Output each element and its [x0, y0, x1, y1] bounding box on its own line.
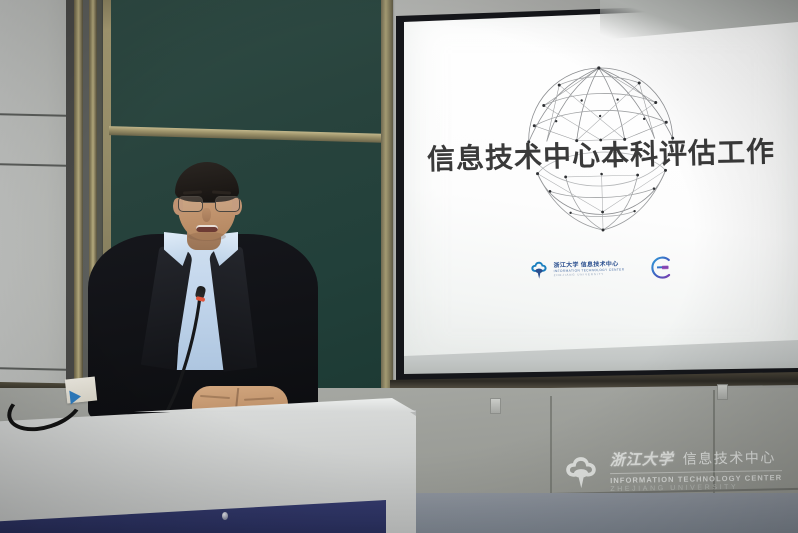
panel-clip [717, 384, 728, 400]
mouth [196, 225, 218, 232]
nose [202, 208, 211, 222]
lower-wall-seam [550, 396, 552, 504]
zju-logo-en-sub: ZHEJIANG UNIVERSITY [554, 273, 625, 277]
photograph-scene: 信息技术中心本科评估工作 浙江大学 信息技术中心 INFORMATION TEC… [0, 0, 798, 533]
left-wall-panel [0, 0, 66, 420]
glasses-lens-right [215, 196, 240, 212]
blue-e-logo [648, 254, 675, 281]
glasses-lens-left [178, 196, 203, 212]
panel-clip [490, 398, 501, 414]
glasses-bridge [201, 202, 215, 203]
blackboard-right-edge [381, 0, 393, 398]
zju-logo-text: 浙江大学 信息技术中心 INFORMATION TECHNOLOGY CENTE… [553, 261, 624, 277]
slide-title: 信息技术中心本科评估工作 [404, 130, 798, 179]
lower-wall-seam [713, 390, 715, 494]
zhejiang-university-itc-logo: 浙江大学 信息技术中心 INFORMATION TECHNOLOGY CENTE… [527, 257, 624, 281]
brass-frame-strip [74, 0, 83, 420]
chin-shadow [188, 232, 226, 241]
frame-strip-dark [66, 0, 74, 420]
zju-cloud-icon [527, 259, 549, 281]
slide-content: 信息技术中心本科评估工作 浙江大学 信息技术中心 INFORMATION TEC… [404, 6, 798, 362]
slide-logo-row: 浙江大学 信息技术中心 INFORMATION TECHNOLOGY CENTE… [404, 252, 798, 287]
podium-screw [222, 512, 228, 520]
paper-blue-mark [69, 389, 81, 404]
